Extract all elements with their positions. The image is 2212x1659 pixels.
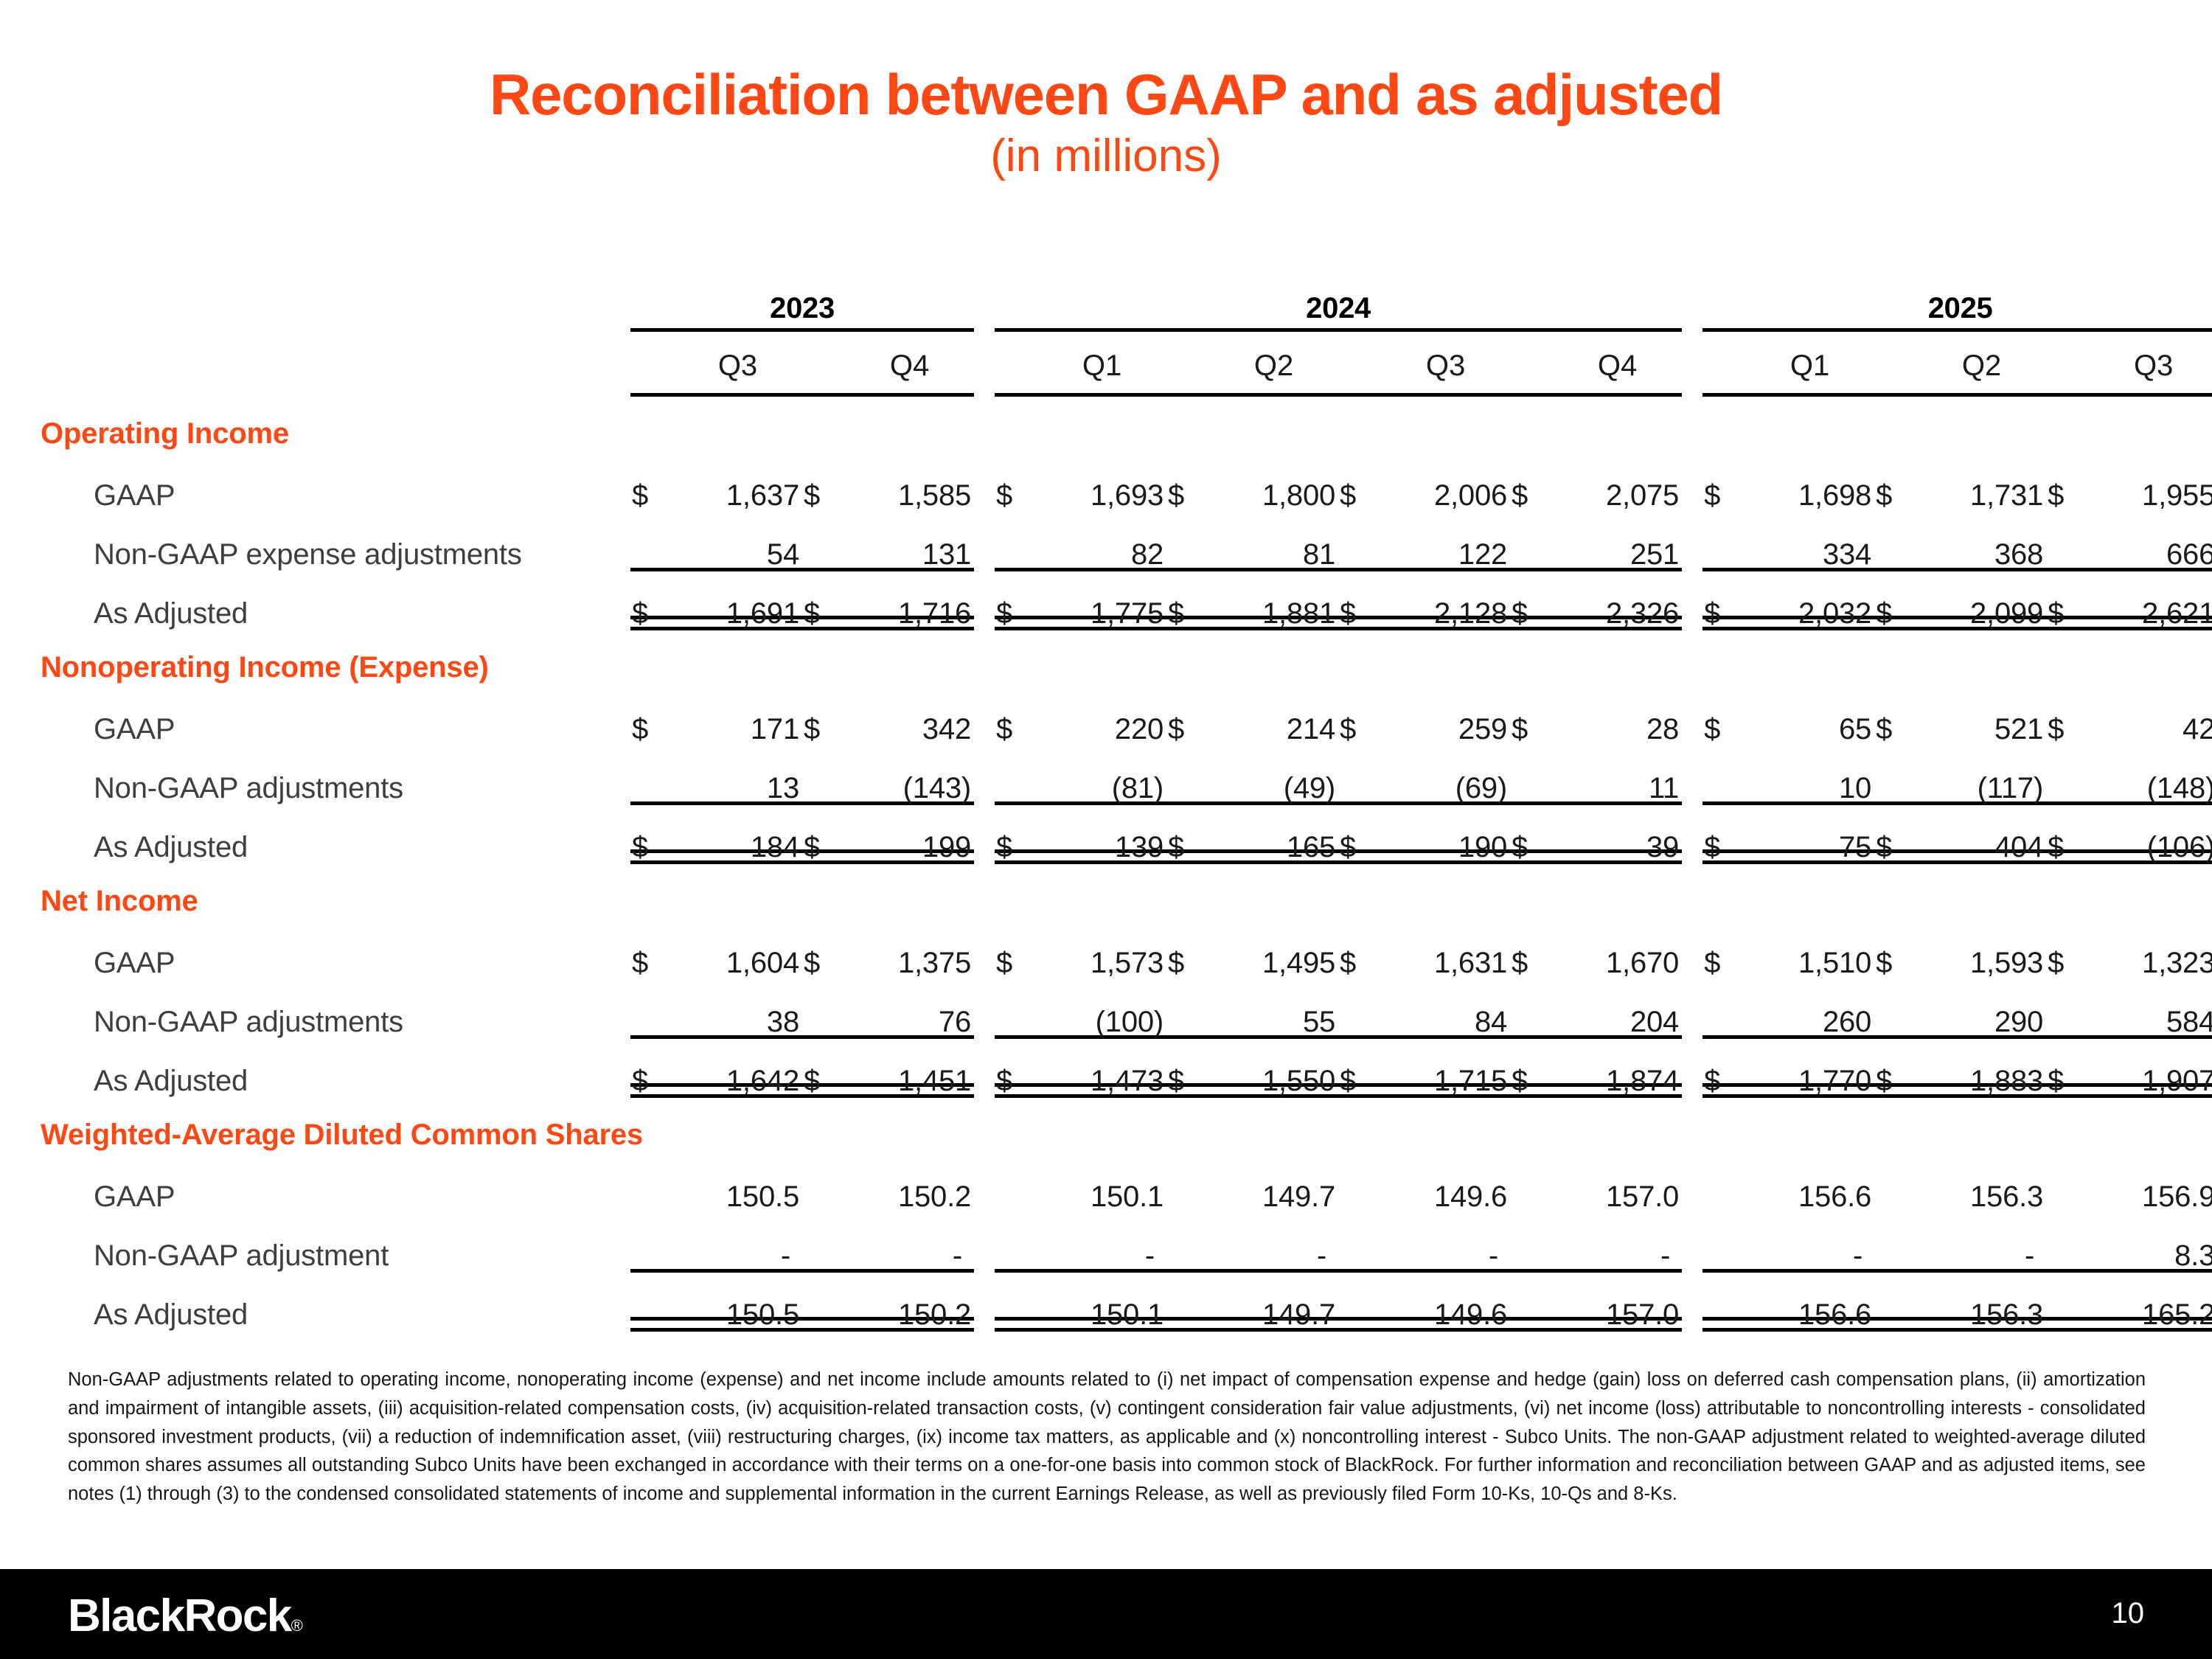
currency-symbol: [1874, 746, 1917, 805]
year-group-header: 2025: [1703, 284, 2212, 330]
table-cell-value: 1,716: [845, 571, 974, 630]
currency-symbol: $: [995, 687, 1037, 746]
table-cell-value: 1,883: [1917, 1039, 2046, 1098]
currency-symbol: $: [1703, 1039, 1745, 1098]
currency-symbol: [1338, 1155, 1381, 1214]
row-label: GAAP: [41, 1155, 630, 1214]
row-label: As Adjusted: [41, 805, 630, 864]
table-row: As Adjusted$184$199$139$165$190$39$75$40…: [41, 805, 2212, 864]
table-cell-value: 2,326: [1553, 571, 1682, 630]
currency-symbol: [2046, 512, 2089, 571]
table-row: As Adjusted$1,642$1,451$1,473$1,550$1,71…: [41, 1039, 2212, 1098]
currency-symbol: [630, 512, 673, 571]
table-cell-value: -: [1037, 1214, 1166, 1273]
currency-symbol: $: [2046, 1039, 2089, 1098]
currency-symbol: [802, 1214, 845, 1273]
table-cell-value: 131: [845, 512, 974, 571]
table-cell-value: 184: [673, 805, 802, 864]
column-gap: [974, 1214, 995, 1273]
section-title-cell: Operating Income: [41, 394, 2212, 453]
currency-symbol: [995, 746, 1037, 805]
table-cell-value: 149.7: [1209, 1273, 1338, 1332]
table-cell-value: 54: [673, 512, 802, 571]
table-cell-value: 55: [1209, 980, 1338, 1039]
row-label: Non-GAAP adjustments: [41, 746, 630, 805]
year-header-row: 202320242025: [41, 284, 2212, 330]
title-block: Reconciliation between GAAP and as adjus…: [0, 65, 2212, 180]
registered-trademark-icon: ®: [291, 1616, 302, 1635]
table-cell-value: 149.6: [1381, 1155, 1510, 1214]
currency-symbol: $: [2046, 453, 2089, 512]
row-label: Non-GAAP adjustment: [41, 1214, 630, 1273]
table-cell-value: -: [1745, 1214, 1874, 1273]
table-cell-value: 342: [845, 687, 974, 746]
table-row: Non-GAAP adjustments13(143)(81)(49)(69)1…: [41, 746, 2212, 805]
currency-symbol: [1703, 1273, 1745, 1332]
currency-symbol: [802, 1155, 845, 1214]
row-label: As Adjusted: [41, 1273, 630, 1332]
currency-symbol: [1703, 980, 1745, 1039]
currency-symbol: $: [802, 687, 845, 746]
currency-symbol: [1510, 1214, 1553, 1273]
currency-symbol: [1338, 512, 1381, 571]
currency-symbol: $: [1874, 453, 1917, 512]
column-gap: [1682, 330, 1703, 394]
table-row: As Adjusted150.5150.2150.1149.7149.6157.…: [41, 1273, 2212, 1332]
currency-symbol: $: [1510, 687, 1553, 746]
currency-symbol: $: [1874, 805, 1917, 864]
reconciliation-table: 202320242025Q3Q4Q1Q2Q3Q4Q1Q2Q3Operating …: [41, 284, 2212, 1332]
table-cell-value: 13: [673, 746, 802, 805]
column-gap: [974, 746, 995, 805]
table-cell-value: 1,955: [2089, 453, 2212, 512]
currency-symbol: [2046, 1273, 2089, 1332]
table-cell-value: 1,495: [1209, 921, 1338, 980]
currency-symbol: [995, 1155, 1037, 1214]
table-cell-value: 8.3: [2089, 1214, 2212, 1273]
table-cell-value: 156.9: [2089, 1155, 2212, 1214]
currency-symbol: [802, 980, 845, 1039]
table-cell-value: 150.1: [1037, 1155, 1166, 1214]
currency-symbol: $: [1703, 571, 1745, 630]
currency-symbol: $: [1510, 571, 1553, 630]
column-gap: [1682, 1039, 1703, 1098]
table-cell-value: 81: [1209, 512, 1338, 571]
currency-symbol: $: [995, 805, 1037, 864]
row-label: GAAP: [41, 921, 630, 980]
table-cell-value: 1,693: [1037, 453, 1166, 512]
table-cell-value: -: [1381, 1214, 1510, 1273]
column-gap: [1682, 687, 1703, 746]
currency-symbol: [1338, 980, 1381, 1039]
currency-symbol: $: [2046, 921, 2089, 980]
currency-symbol: $: [802, 921, 845, 980]
quarter-header-2025-Q1: Q1: [1745, 330, 1874, 394]
table-cell-value: -: [1553, 1214, 1682, 1273]
table-cell-value: 75: [1745, 805, 1874, 864]
column-gap: [974, 571, 995, 630]
table-row: GAAP$171$342$220$214$259$28$65$521$42: [41, 687, 2212, 746]
footnote-text: Non-GAAP adjustments related to operatin…: [68, 1366, 2146, 1509]
currency-symbol: [995, 512, 1037, 571]
currency-symbol: [1703, 512, 1745, 571]
currency-symbol: $: [995, 1039, 1037, 1098]
quarter-header-row: Q3Q4Q1Q2Q3Q4Q1Q2Q3: [41, 330, 2212, 394]
currency-symbol: [1510, 746, 1553, 805]
table-cell-value: 2,128: [1381, 571, 1510, 630]
table-cell-value: 334: [1745, 512, 1874, 571]
table-cell-value: 171: [673, 687, 802, 746]
table-cell-value: 666: [2089, 512, 2212, 571]
table-cell-value: 2,099: [1917, 571, 2046, 630]
currency-symbol: [995, 1273, 1037, 1332]
table-cell-value: 1,698: [1745, 453, 1874, 512]
currency-symbol: [1166, 512, 1209, 571]
table-cell-value: 150.5: [673, 1155, 802, 1214]
table-cell-value: 1,593: [1917, 921, 2046, 980]
table-cell-value: 122: [1381, 512, 1510, 571]
currency-symbol: [630, 1273, 673, 1332]
currency-symbol: [995, 980, 1037, 1039]
table-cell-value: 1,731: [1917, 453, 2046, 512]
column-gap: [974, 1273, 995, 1332]
currency-symbol: [802, 1273, 845, 1332]
table-cell-value: 39: [1553, 805, 1682, 864]
table-cell-value: 1,642: [673, 1039, 802, 1098]
table-cell-value: 38: [673, 980, 802, 1039]
currency-symbol: [1510, 1273, 1553, 1332]
currency-symbol: $: [1874, 1039, 1917, 1098]
table-cell-value: 1,715: [1381, 1039, 1510, 1098]
quarter-header-currency-spacer: [2046, 330, 2089, 394]
quarter-header-2023-Q3: Q3: [673, 330, 802, 394]
table-cell-value: 82: [1037, 512, 1166, 571]
table-cell-value: 1,451: [845, 1039, 974, 1098]
table-cell-value: 368: [1917, 512, 2046, 571]
table-cell-value: 521: [1917, 687, 2046, 746]
table-cell-value: 204: [1553, 980, 1682, 1039]
column-gap: [1682, 1214, 1703, 1273]
currency-symbol: [995, 1214, 1037, 1273]
currency-symbol: $: [802, 571, 845, 630]
currency-symbol: $: [2046, 687, 2089, 746]
currency-symbol: $: [1338, 453, 1381, 512]
table-cell-value: 2,006: [1381, 453, 1510, 512]
row-label: Non-GAAP expense adjustments: [41, 512, 630, 571]
table-cell-value: 1,375: [845, 921, 974, 980]
page-subtitle: (in millions): [0, 132, 2212, 180]
table-cell-value: (117): [1917, 746, 2046, 805]
currency-symbol: $: [1874, 571, 1917, 630]
quarter-header-2025-Q2: Q2: [1917, 330, 2046, 394]
currency-symbol: $: [1703, 921, 1745, 980]
currency-symbol: $: [802, 453, 845, 512]
quarter-header-2024-Q3: Q3: [1381, 330, 1510, 394]
table-cell-value: 150.1: [1037, 1273, 1166, 1332]
table-cell-value: 1,323: [2089, 921, 2212, 980]
currency-symbol: $: [1166, 571, 1209, 630]
table-cell-value: 156.6: [1745, 1273, 1874, 1332]
row-label: GAAP: [41, 453, 630, 512]
currency-symbol: $: [630, 921, 673, 980]
currency-symbol: [630, 1214, 673, 1273]
currency-symbol: $: [1338, 1039, 1381, 1098]
currency-symbol: $: [995, 453, 1037, 512]
table-cell-value: 190: [1381, 805, 1510, 864]
table-cell-value: (69): [1381, 746, 1510, 805]
table-cell-value: (106): [2089, 805, 2212, 864]
table-cell-value: 1,473: [1037, 1039, 1166, 1098]
table-cell-value: 149.6: [1381, 1273, 1510, 1332]
blackrock-logo: BlackRock®: [68, 1590, 302, 1642]
table-cell-value: 1,881: [1209, 571, 1338, 630]
table-cell-value: 2,075: [1553, 453, 1682, 512]
column-gap: [974, 687, 995, 746]
row-label: Non-GAAP adjustments: [41, 980, 630, 1039]
table-cell-value: 42: [2089, 687, 2212, 746]
currency-symbol: $: [1703, 453, 1745, 512]
currency-symbol: [2046, 980, 2089, 1039]
table-cell-value: 28: [1553, 687, 1682, 746]
currency-symbol: [1510, 512, 1553, 571]
table-cell-value: 1,907: [2089, 1039, 2212, 1098]
table-row: GAAP$1,604$1,375$1,573$1,495$1,631$1,670…: [41, 921, 2212, 980]
table-cell-value: 150.5: [673, 1273, 802, 1332]
currency-symbol: [2046, 1214, 2089, 1273]
currency-symbol: [630, 746, 673, 805]
currency-symbol: $: [630, 687, 673, 746]
year-group-header: 2023: [630, 284, 974, 330]
column-gap: [1682, 805, 1703, 864]
currency-symbol: $: [630, 805, 673, 864]
column-gap: [1682, 453, 1703, 512]
table-cell-value: 157.0: [1553, 1155, 1682, 1214]
currency-symbol: [2046, 746, 2089, 805]
currency-symbol: [1166, 1155, 1209, 1214]
quarter-header-currency-spacer: [1166, 330, 1209, 394]
table-cell-value: 1,691: [673, 571, 802, 630]
quarter-header-currency-spacer: [802, 330, 845, 394]
currency-symbol: $: [2046, 805, 2089, 864]
currency-symbol: [2046, 1155, 2089, 1214]
reconciliation-table-wrapper: 202320242025Q3Q4Q1Q2Q3Q4Q1Q2Q3Operating …: [0, 284, 2212, 1332]
table-cell-value: 139: [1037, 805, 1166, 864]
table-cell-value: 156.3: [1917, 1273, 2046, 1332]
table-cell-value: 1,770: [1745, 1039, 1874, 1098]
currency-symbol: [1703, 746, 1745, 805]
page-number: 10: [2112, 1597, 2145, 1630]
quarter-header-2024-Q2: Q2: [1209, 330, 1338, 394]
table-cell-value: 10: [1745, 746, 1874, 805]
section-title: Net Income: [41, 885, 2212, 918]
section-title: Weighted-Average Diluted Common Shares: [41, 1119, 2212, 1152]
table-cell-value: 1,604: [673, 921, 802, 980]
table-cell-value: 251: [1553, 512, 1682, 571]
table-row: GAAP150.5150.2150.1149.7149.6157.0156.61…: [41, 1155, 2212, 1214]
table-cell-value: 1,550: [1209, 1039, 1338, 1098]
column-gap: [1682, 571, 1703, 630]
currency-symbol: [1166, 1273, 1209, 1332]
row-label: GAAP: [41, 687, 630, 746]
currency-symbol: $: [2046, 571, 2089, 630]
table-cell-value: 1,631: [1381, 921, 1510, 980]
currency-symbol: [1874, 1273, 1917, 1332]
column-gap: [974, 921, 995, 980]
currency-symbol: $: [1166, 687, 1209, 746]
currency-symbol: $: [1166, 921, 1209, 980]
table-cell-value: 165: [1209, 805, 1338, 864]
currency-symbol: $: [1874, 687, 1917, 746]
table-cell-value: 150.2: [845, 1155, 974, 1214]
table-cell-value: 290: [1917, 980, 2046, 1039]
currency-symbol: $: [1166, 805, 1209, 864]
currency-symbol: [1338, 1214, 1381, 1273]
section-header-row: Weighted-Average Diluted Common Shares: [41, 1098, 2212, 1155]
logo-wordmark: BlackRock: [68, 1590, 291, 1641]
table-cell-value: 260: [1745, 980, 1874, 1039]
currency-symbol: $: [1338, 805, 1381, 864]
table-cell-value: 2,032: [1745, 571, 1874, 630]
table-cell-value: 1,800: [1209, 453, 1338, 512]
quarter-header-currency-spacer: [1703, 330, 1745, 394]
table-cell-value: 214: [1209, 687, 1338, 746]
section-title: Nonoperating Income (Expense): [41, 651, 2212, 684]
column-gap: [1682, 1273, 1703, 1332]
table-cell-value: 149.7: [1209, 1155, 1338, 1214]
table-cell-value: 220: [1037, 687, 1166, 746]
column-gap: [1682, 746, 1703, 805]
table-cell-value: 165.2: [2089, 1273, 2212, 1332]
currency-symbol: [1874, 512, 1917, 571]
table-cell-value: 259: [1381, 687, 1510, 746]
column-gap: [1682, 1155, 1703, 1214]
page-title: Reconciliation between GAAP and as adjus…: [0, 65, 2212, 125]
table-cell-value: (148): [2089, 746, 2212, 805]
currency-symbol: [1874, 1214, 1917, 1273]
table-cell-value: 150.2: [845, 1273, 974, 1332]
currency-symbol: [1874, 980, 1917, 1039]
column-gap: [974, 1039, 995, 1098]
currency-symbol: $: [1338, 571, 1381, 630]
slide-footer: BlackRock® 10: [0, 1569, 2212, 1659]
section-header-row: Nonoperating Income (Expense): [41, 630, 2212, 687]
currency-symbol: [1338, 746, 1381, 805]
table-cell-value: -: [673, 1214, 802, 1273]
currency-symbol: $: [1874, 921, 1917, 980]
table-row: Non-GAAP adjustment--------8.3: [41, 1214, 2212, 1273]
quarter-header-2024-Q1: Q1: [1037, 330, 1166, 394]
currency-symbol: [1510, 1155, 1553, 1214]
column-gap: [1682, 284, 1703, 330]
currency-symbol: $: [802, 1039, 845, 1098]
row-label-spacer: [41, 284, 630, 330]
currency-symbol: $: [802, 805, 845, 864]
currency-symbol: $: [1510, 1039, 1553, 1098]
column-gap: [974, 453, 995, 512]
table-cell-value: 1,510: [1745, 921, 1874, 980]
table-cell-value: (100): [1037, 980, 1166, 1039]
section-title: Operating Income: [41, 417, 2212, 451]
table-cell-value: 65: [1745, 687, 1874, 746]
table-cell-value: 1,874: [1553, 1039, 1682, 1098]
currency-symbol: $: [995, 921, 1037, 980]
currency-symbol: [1338, 1273, 1381, 1332]
currency-symbol: $: [1166, 1039, 1209, 1098]
table-cell-value: (49): [1209, 746, 1338, 805]
currency-symbol: [1166, 980, 1209, 1039]
table-cell-value: 157.0: [1553, 1273, 1682, 1332]
currency-symbol: [630, 1155, 673, 1214]
currency-symbol: [802, 512, 845, 571]
column-gap: [1682, 512, 1703, 571]
section-title-cell: Net Income: [41, 864, 2212, 921]
quarter-header-2024-Q4: Q4: [1553, 330, 1682, 394]
quarter-header-2023-Q4: Q4: [845, 330, 974, 394]
currency-symbol: $: [630, 1039, 673, 1098]
section-title-cell: Nonoperating Income (Expense): [41, 630, 2212, 687]
quarter-header-currency-spacer: [995, 330, 1037, 394]
column-gap: [974, 284, 995, 330]
column-gap: [974, 512, 995, 571]
table-row: Non-GAAP adjustments3876(100)55842042602…: [41, 980, 2212, 1039]
currency-symbol: $: [1338, 921, 1381, 980]
table-cell-value: -: [845, 1214, 974, 1273]
column-gap: [1682, 921, 1703, 980]
column-gap: [974, 330, 995, 394]
table-cell-value: -: [1209, 1214, 1338, 1273]
quarter-header-currency-spacer: [1874, 330, 1917, 394]
column-gap: [974, 805, 995, 864]
section-header-row: Operating Income: [41, 394, 2212, 453]
table-cell-value: 584: [2089, 980, 2212, 1039]
currency-symbol: $: [630, 571, 673, 630]
currency-symbol: $: [1166, 453, 1209, 512]
currency-symbol: $: [995, 571, 1037, 630]
currency-symbol: [1166, 746, 1209, 805]
currency-symbol: $: [1510, 921, 1553, 980]
column-gap: [974, 980, 995, 1039]
column-gap: [1682, 980, 1703, 1039]
table-cell-value: 1,775: [1037, 571, 1166, 630]
row-label: As Adjusted: [41, 571, 630, 630]
quarter-header-currency-spacer: [630, 330, 673, 394]
currency-symbol: $: [1703, 805, 1745, 864]
currency-symbol: [1703, 1214, 1745, 1273]
table-cell-value: (143): [845, 746, 974, 805]
currency-symbol: [1703, 1155, 1745, 1214]
currency-symbol: $: [1510, 453, 1553, 512]
column-gap: [974, 1155, 995, 1214]
table-cell-value: 2,621: [2089, 571, 2212, 630]
row-label: As Adjusted: [41, 1039, 630, 1098]
table-row: GAAP$1,637$1,585$1,693$1,800$2,006$2,075…: [41, 453, 2212, 512]
currency-symbol: $: [1338, 687, 1381, 746]
currency-symbol: $: [1703, 687, 1745, 746]
section-header-row: Net Income: [41, 864, 2212, 921]
table-cell-value: 156.3: [1917, 1155, 2046, 1214]
section-title-cell: Weighted-Average Diluted Common Shares: [41, 1098, 2212, 1155]
year-group-header: 2024: [995, 284, 1682, 330]
table-row: As Adjusted$1,691$1,716$1,775$1,881$2,12…: [41, 571, 2212, 630]
currency-symbol: [630, 980, 673, 1039]
quarter-header-currency-spacer: [1510, 330, 1553, 394]
table-cell-value: 84: [1381, 980, 1510, 1039]
currency-symbol: [1166, 1214, 1209, 1273]
table-cell-value: (81): [1037, 746, 1166, 805]
table-cell-value: 199: [845, 805, 974, 864]
table-cell-value: 76: [845, 980, 974, 1039]
table-cell-value: 156.6: [1745, 1155, 1874, 1214]
